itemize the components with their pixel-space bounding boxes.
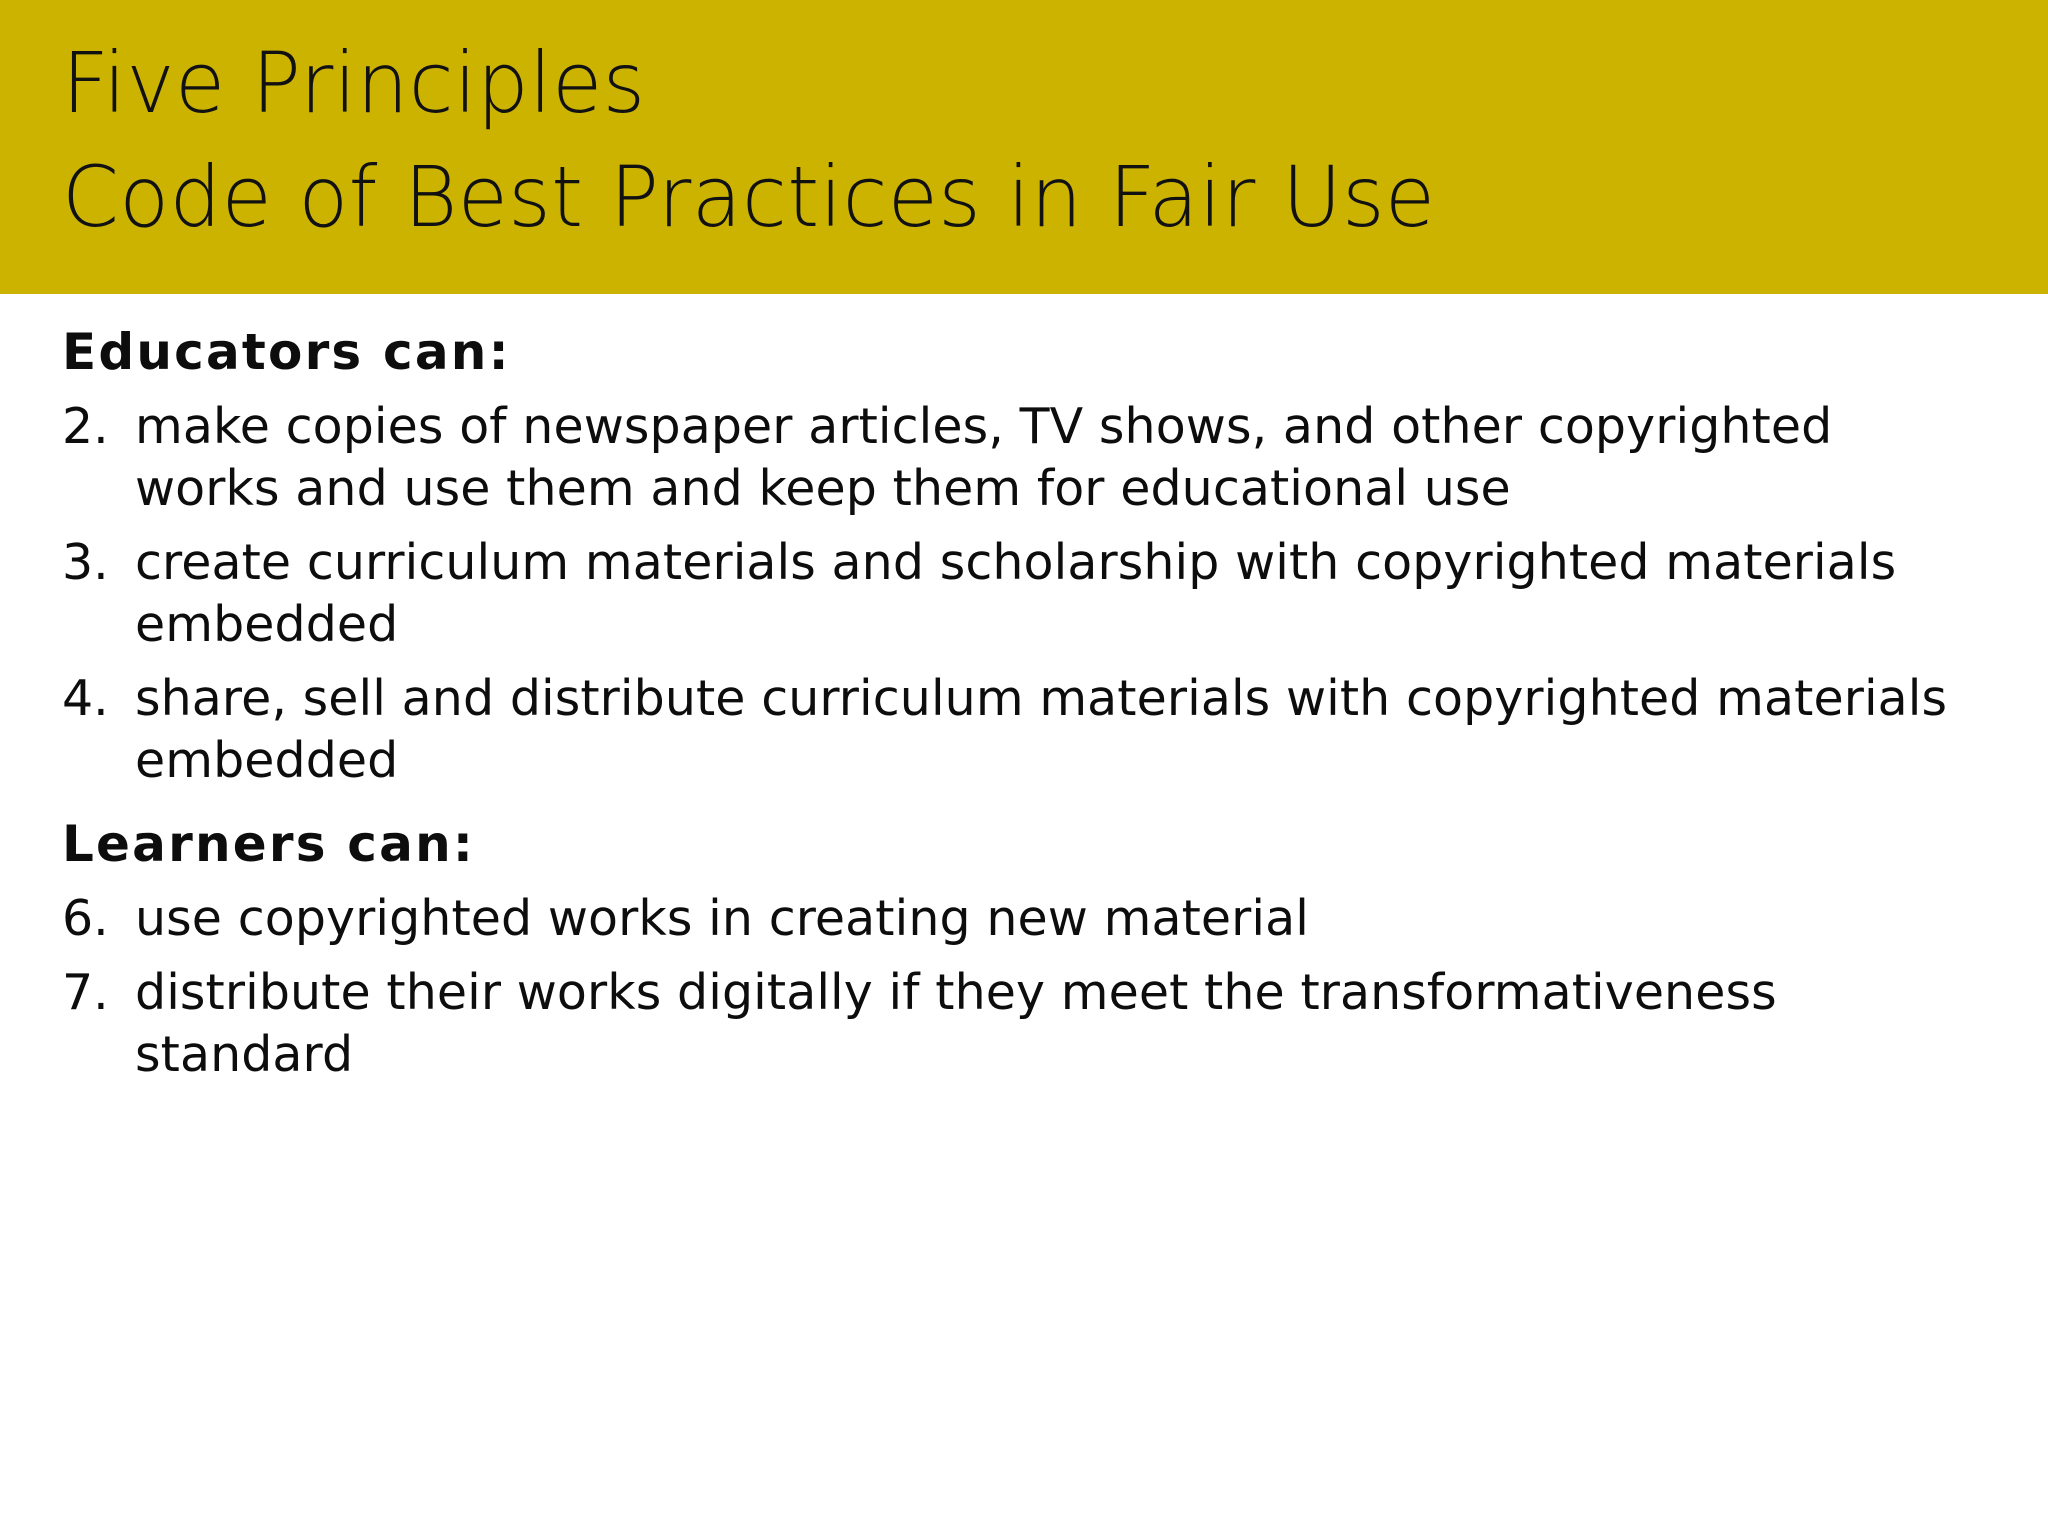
list-item: 2. make copies of newspaper articles, TV…: [62, 396, 2008, 520]
list-item-number: 4.: [62, 668, 135, 730]
section-heading-educators: Educators can:: [62, 316, 2008, 388]
list-item: 7. distribute their works digitally if t…: [62, 962, 2008, 1086]
list-item-number: 3.: [62, 532, 135, 594]
list-item-text: share, sell and distribute curriculum ma…: [135, 668, 1967, 792]
slide-title-line-2: Code of Best Practices in Fair Use: [62, 140, 1988, 254]
list-item: 3. create curriculum materials and schol…: [62, 532, 2008, 656]
list-item-text: use copyrighted works in creating new ma…: [135, 888, 1967, 950]
slide-header-band: Five Principles Code of Best Practices i…: [0, 0, 2048, 294]
section-learners: Learners can: 6. use copyrighted works i…: [62, 808, 2008, 1086]
list-item: 6. use copyrighted works in creating new…: [62, 888, 2008, 950]
list-item-number: 2.: [62, 396, 135, 458]
list-item-number: 7.: [62, 962, 135, 1024]
list-learners: 6. use copyrighted works in creating new…: [62, 888, 2008, 1086]
slide-title-line-1: Five Principles: [62, 26, 1988, 140]
slide: Five Principles Code of Best Practices i…: [0, 0, 2048, 1536]
slide-body: Educators can: 2. make copies of newspap…: [0, 294, 2048, 1536]
list-item-text: distribute their works digitally if they…: [135, 962, 1967, 1086]
list-item-text: create curriculum materials and scholars…: [135, 532, 1967, 656]
list-item: 4. share, sell and distribute curriculum…: [62, 668, 2008, 792]
list-item-number: 6.: [62, 888, 135, 950]
section-educators: Educators can: 2. make copies of newspap…: [62, 316, 2008, 792]
list-item-text: make copies of newspaper articles, TV sh…: [135, 396, 1967, 520]
section-heading-learners: Learners can:: [62, 808, 2008, 880]
list-educators: 2. make copies of newspaper articles, TV…: [62, 396, 2008, 792]
